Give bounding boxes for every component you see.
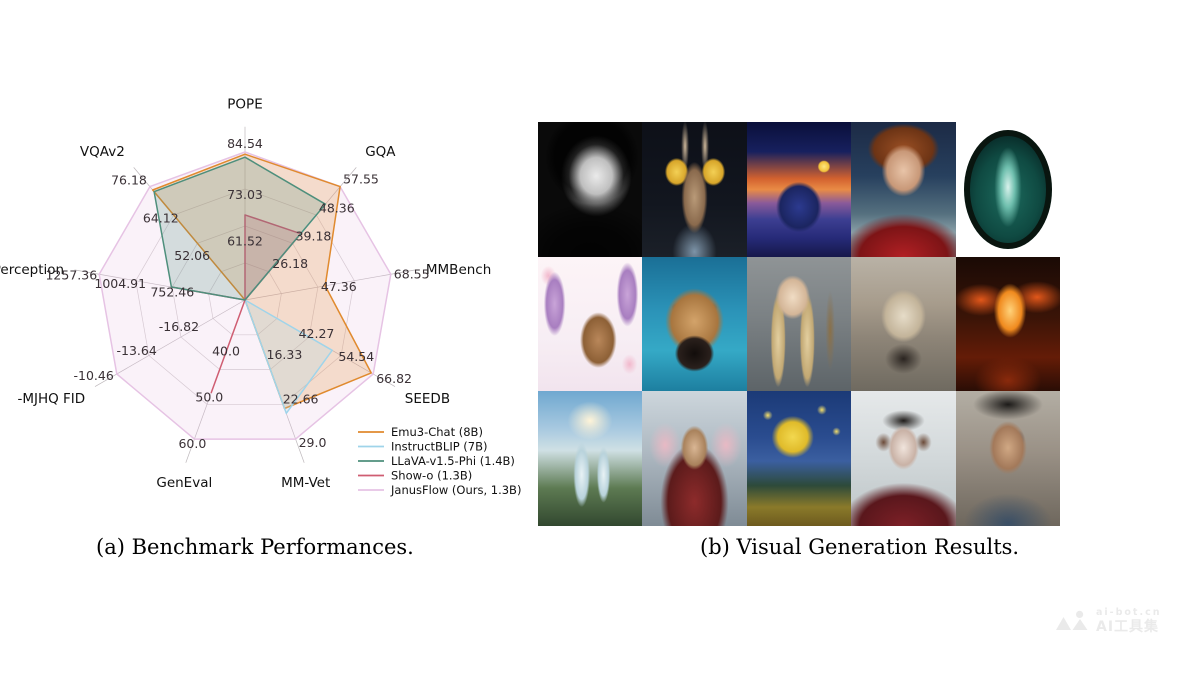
radar-axis-label-mjhq-fid: -MJHQ FID	[17, 391, 85, 407]
radar-tick-pope-0: 84.54	[227, 136, 263, 151]
gallery-cell-bw-portrait-woman	[538, 122, 642, 257]
legend-item-janusflow-ours-1-3b[interactable]: JanusFlow (Ours, 1.3B)	[358, 483, 521, 497]
radar-tick-pope-2: 61.52	[227, 234, 263, 249]
radar-axis-label-mmbench: MMBench	[426, 262, 491, 278]
watermark-site: ai-bot.cn	[1096, 608, 1161, 618]
gallery-cell-veiled-woman-portrait	[642, 391, 746, 526]
gallery-cell-cow-in-red-jacket	[851, 391, 955, 526]
legend-item-instructblip-7b[interactable]: InstructBLIP (7B)	[358, 440, 488, 454]
radar-tick-vqav2-1: 64.12	[143, 211, 179, 226]
radar-tick-vqav2-0: 76.18	[111, 173, 147, 188]
legend-label: Show-o (1.3B)	[391, 469, 472, 483]
radar-chart: POPEGQAMMBenchSEEDBMM-VetGenEval-MJHQ FI…	[0, 90, 535, 520]
gallery-cell-red-jacket-woman-shore	[851, 122, 955, 257]
gallery-cell-fantasy-antelope	[642, 122, 746, 257]
ai-bot-logo-icon	[1055, 610, 1089, 632]
radar-tick-geneval-2: 40.0	[212, 344, 240, 359]
radar-tick-mme-perception-2: 752.46	[150, 284, 194, 299]
gallery-cell-fiery-phoenix	[956, 257, 1060, 392]
watermark-brand: AI工具集	[1096, 620, 1161, 634]
radar-tick-gqa-0: 57.55	[343, 172, 379, 187]
radar-axis-label-geneval: GenEval	[156, 475, 212, 491]
radar-tick-mmbench-0: 68.55	[394, 266, 430, 281]
radar-tick-seedb-2: 42.27	[299, 326, 335, 341]
radar-tick-geneval-0: 60.0	[178, 436, 206, 451]
radar-tick-pope-1: 73.03	[227, 187, 263, 202]
caption-b: (b) Visual Generation Results.	[700, 535, 1019, 559]
gallery-cell-fawn-with-wisteria	[538, 257, 642, 392]
watermark: ai-bot.cn AI工具集	[1055, 600, 1195, 642]
gallery-cell-close-up-dog-snout	[642, 257, 746, 392]
gallery-cell-enchanted-forest-orb	[956, 122, 1060, 257]
radar-tick-mme-perception-1: 1004.91	[94, 276, 146, 291]
radar-tick-mjhq-fid-1: -13.64	[117, 343, 157, 358]
radar-tick-mmbench-1: 47.36	[321, 279, 357, 294]
radar-tick-seedb-1: 54.54	[338, 349, 374, 364]
caption-a: (a) Benchmark Performances.	[96, 535, 414, 559]
radar-axis-label-pope: POPE	[227, 96, 262, 112]
visual-generation-panel	[538, 122, 1060, 526]
radar-tick-geneval-1: 50.0	[195, 390, 223, 405]
gallery-cell-braided-hair-warrior-girl	[747, 257, 851, 392]
radar-tick-mm-vet-0: 29.0	[299, 435, 327, 450]
gallery-cell-tribal-face-paint-man	[956, 391, 1060, 526]
gallery-cell-starry-night-painting	[747, 391, 851, 526]
legend-label: InstructBLIP (7B)	[391, 440, 488, 454]
gallery-cell-tropical-waterfall	[538, 391, 642, 526]
radar-axis-label-gqa: GQA	[365, 144, 396, 160]
radar-tick-mm-vet-1: 22.66	[283, 391, 319, 406]
radar-axis-label-mm-vet: MM-Vet	[281, 475, 330, 491]
legend-label: LLaVA-v1.5-Phi (1.4B)	[391, 454, 515, 468]
radar-tick-mme-perception-0: 1257.36	[45, 267, 97, 282]
legend-item-llava-v1-5-phi-1-4b[interactable]: LLaVA-v1.5-Phi (1.4B)	[358, 454, 515, 468]
legend-item-emu3-chat-8b[interactable]: Emu3-Chat (8B)	[358, 425, 483, 439]
benchmark-radar-panel: POPEGQAMMBenchSEEDBMM-VetGenEval-MJHQ FI…	[0, 0, 535, 675]
radar-tick-gqa-2: 39.18	[296, 228, 332, 243]
radar-tick-mjhq-fid-2: -16.82	[159, 319, 199, 334]
legend-item-show-o-1-3b[interactable]: Show-o (1.3B)	[358, 469, 472, 483]
radar-tick-mjhq-fid-0: -10.46	[74, 368, 114, 383]
legend-label: Emu3-Chat (8B)	[391, 425, 483, 439]
radar-tick-vqav2-2: 52.06	[174, 248, 210, 263]
radar-axis-label-vqav2: VQAv2	[80, 144, 125, 160]
gallery-cell-pixel-observatory-night	[747, 122, 851, 257]
radar-tick-gqa-1: 48.36	[319, 201, 355, 216]
radar-axis-label-seedb: SEEDB	[405, 391, 450, 407]
figure-root: POPEGQAMMBenchSEEDBMM-VetGenEval-MJHQ FI…	[0, 0, 1200, 675]
radar-tick-gqa-3: 26.18	[272, 256, 308, 271]
gallery-cell-steampunk-goggles-dog	[851, 257, 955, 392]
radar-tick-seedb-0: 66.82	[376, 371, 412, 386]
radar-tick-mm-vet-2: 16.33	[267, 347, 303, 362]
image-grid	[538, 122, 1060, 526]
legend-label: JanusFlow (Ours, 1.3B)	[390, 483, 521, 497]
